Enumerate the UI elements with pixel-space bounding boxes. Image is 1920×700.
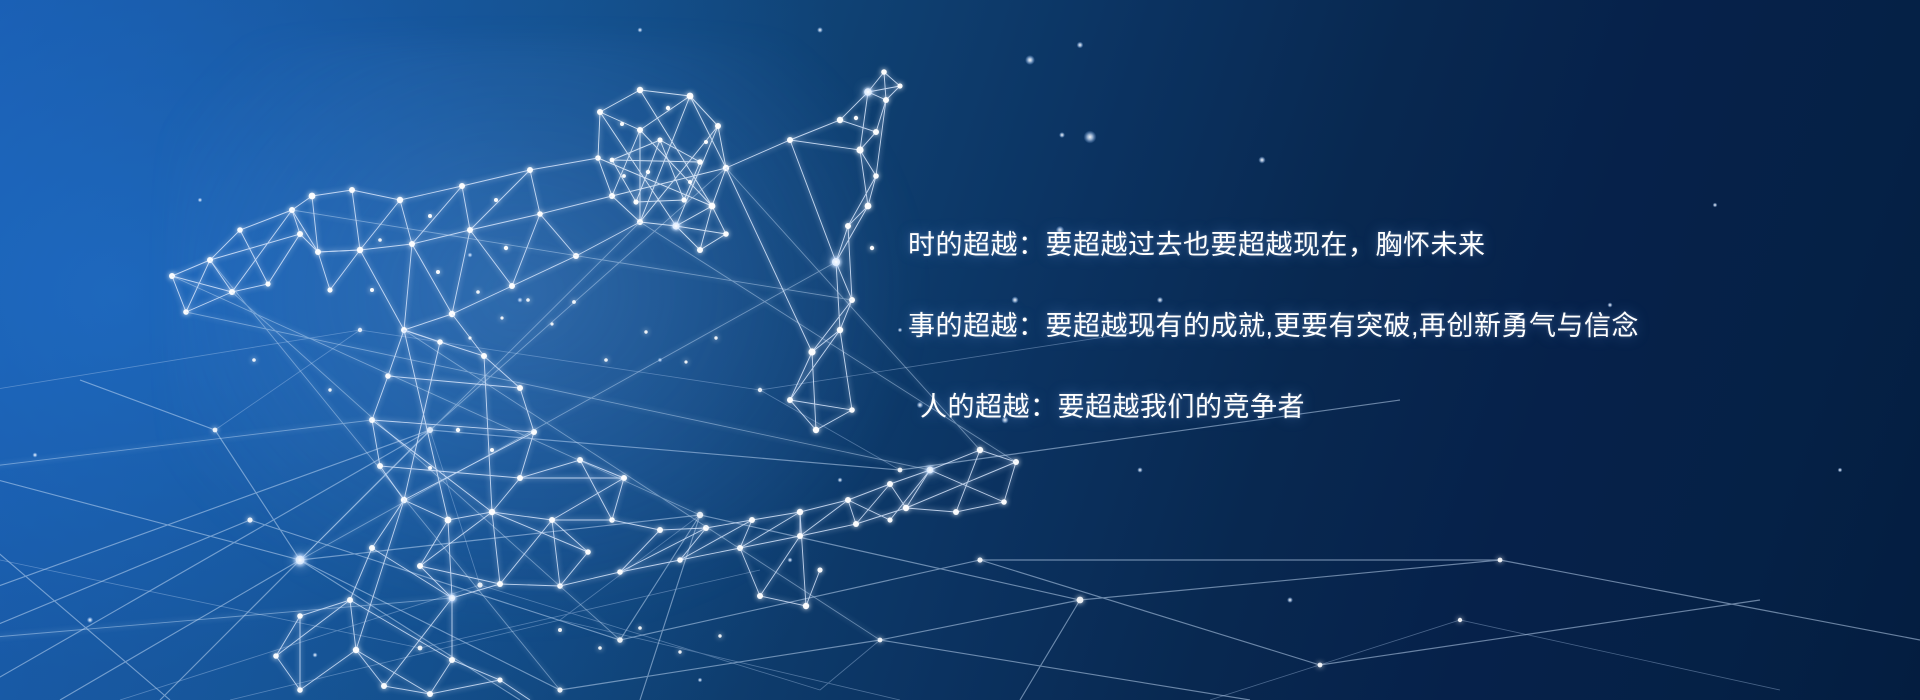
- figure-glow-halo: [170, 40, 930, 640]
- tagline-group: 时的超越：要超越过去也要超越现在，胸怀未来 事的超越：要超越现有的成就,更要有突…: [908, 232, 1848, 421]
- tagline-people: 人的超越：要超越我们的竞争者: [920, 394, 1848, 421]
- hero-banner: 时的超越：要超越过去也要超越现在，胸怀未来 事的超越：要超越现有的成就,更要有突…: [0, 0, 1920, 700]
- tagline-matter: 事的超越：要超越现有的成就,更要有突破,再创新勇气与信念: [908, 313, 1848, 340]
- tagline-time: 时的超越：要超越过去也要超越现在，胸怀未来: [908, 232, 1848, 259]
